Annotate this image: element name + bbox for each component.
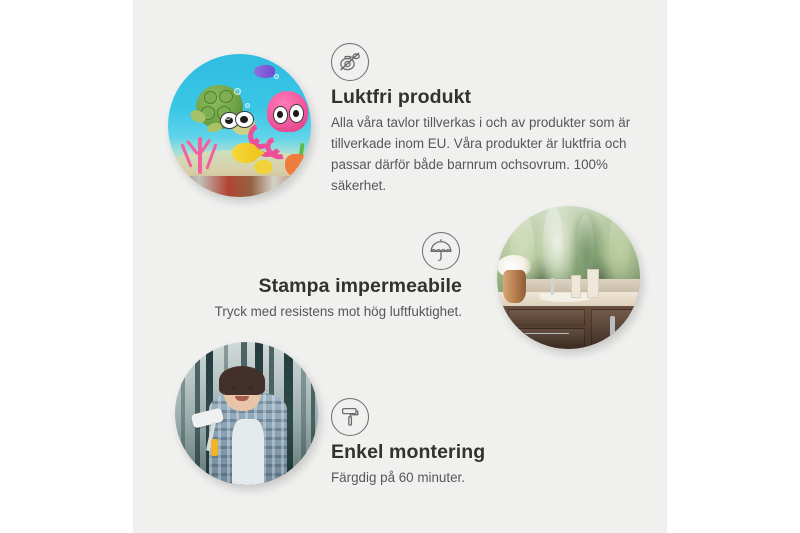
bubble-icon — [274, 74, 279, 79]
octopus-eye — [273, 106, 288, 124]
umbrella-icon — [422, 232, 460, 270]
octopus-eye — [289, 104, 304, 122]
painter-hair — [219, 366, 265, 395]
leaf-shape — [609, 209, 630, 281]
small-fish-icon — [254, 160, 273, 174]
ocean-scene — [168, 54, 311, 197]
feature-text: Stampa impermeabile Tryck med resistens … — [160, 232, 462, 323]
feature-odorless: Luktfri produkt Alla våra tavlor tillver… — [331, 43, 631, 196]
cabinet-drawer — [508, 309, 585, 326]
soap-bottle — [587, 269, 598, 298]
feature-description: Färgdig på 60 minuter. — [331, 468, 591, 489]
product-feature-infographic: Luktfri produkt Alla våra tavlor tillver… — [0, 0, 800, 533]
coral-icon — [179, 131, 222, 174]
decorative-vase — [503, 270, 526, 303]
painter-scene — [175, 342, 318, 485]
faucet-icon — [551, 278, 554, 295]
cabinet-drawer — [508, 328, 585, 347]
feature-text: Enkel montering Färgdig på 60 minuter. — [331, 398, 591, 489]
bathroom-scene — [497, 206, 640, 349]
purple-fish-icon — [254, 65, 275, 78]
turtle-shell-spot — [219, 90, 233, 103]
feature-description: Tryck med resistens mot hög luftfuktighe… — [160, 302, 462, 323]
tree-trunk — [181, 342, 185, 485]
painter-undershirt — [232, 419, 263, 485]
soap-bottle — [571, 275, 581, 298]
product-photo-bathroom[interactable] — [497, 206, 640, 349]
sea-turtle-icon — [192, 83, 255, 137]
product-photo-painter[interactable] — [175, 342, 318, 485]
leaf-shape — [543, 206, 563, 283]
vanity-cabinet — [503, 306, 640, 349]
feature-title: Luktfri produkt — [331, 85, 631, 109]
bubble-icon — [245, 103, 250, 108]
tree-trunk — [311, 342, 315, 485]
door-handle — [610, 316, 615, 340]
sink-basin — [540, 293, 591, 302]
feature-description: Alla våra tavlor tillverkas i och av pro… — [331, 113, 631, 196]
feature-easy-mounting: Enkel montering Färgdig på 60 minuter. — [331, 398, 591, 489]
painter-eye — [248, 386, 254, 390]
starfish-icon — [285, 154, 308, 177]
product-photo-ocean[interactable] — [168, 54, 311, 197]
feature-waterproof: Stampa impermeabile Tryck med resistens … — [160, 232, 462, 323]
tree-trunk — [301, 342, 306, 485]
feature-title: Stampa impermeabile — [160, 274, 462, 298]
paint-roller-icon — [331, 398, 369, 436]
feature-text: Luktfri produkt Alla våra tavlor tillver… — [331, 43, 631, 196]
no-odor-spray-bottle-icon — [331, 43, 369, 81]
yellow-fish-icon — [232, 143, 258, 163]
paint-roller-grip — [211, 439, 218, 456]
ocean-foreground-strip — [168, 176, 311, 197]
feature-title: Enkel montering — [331, 440, 591, 464]
